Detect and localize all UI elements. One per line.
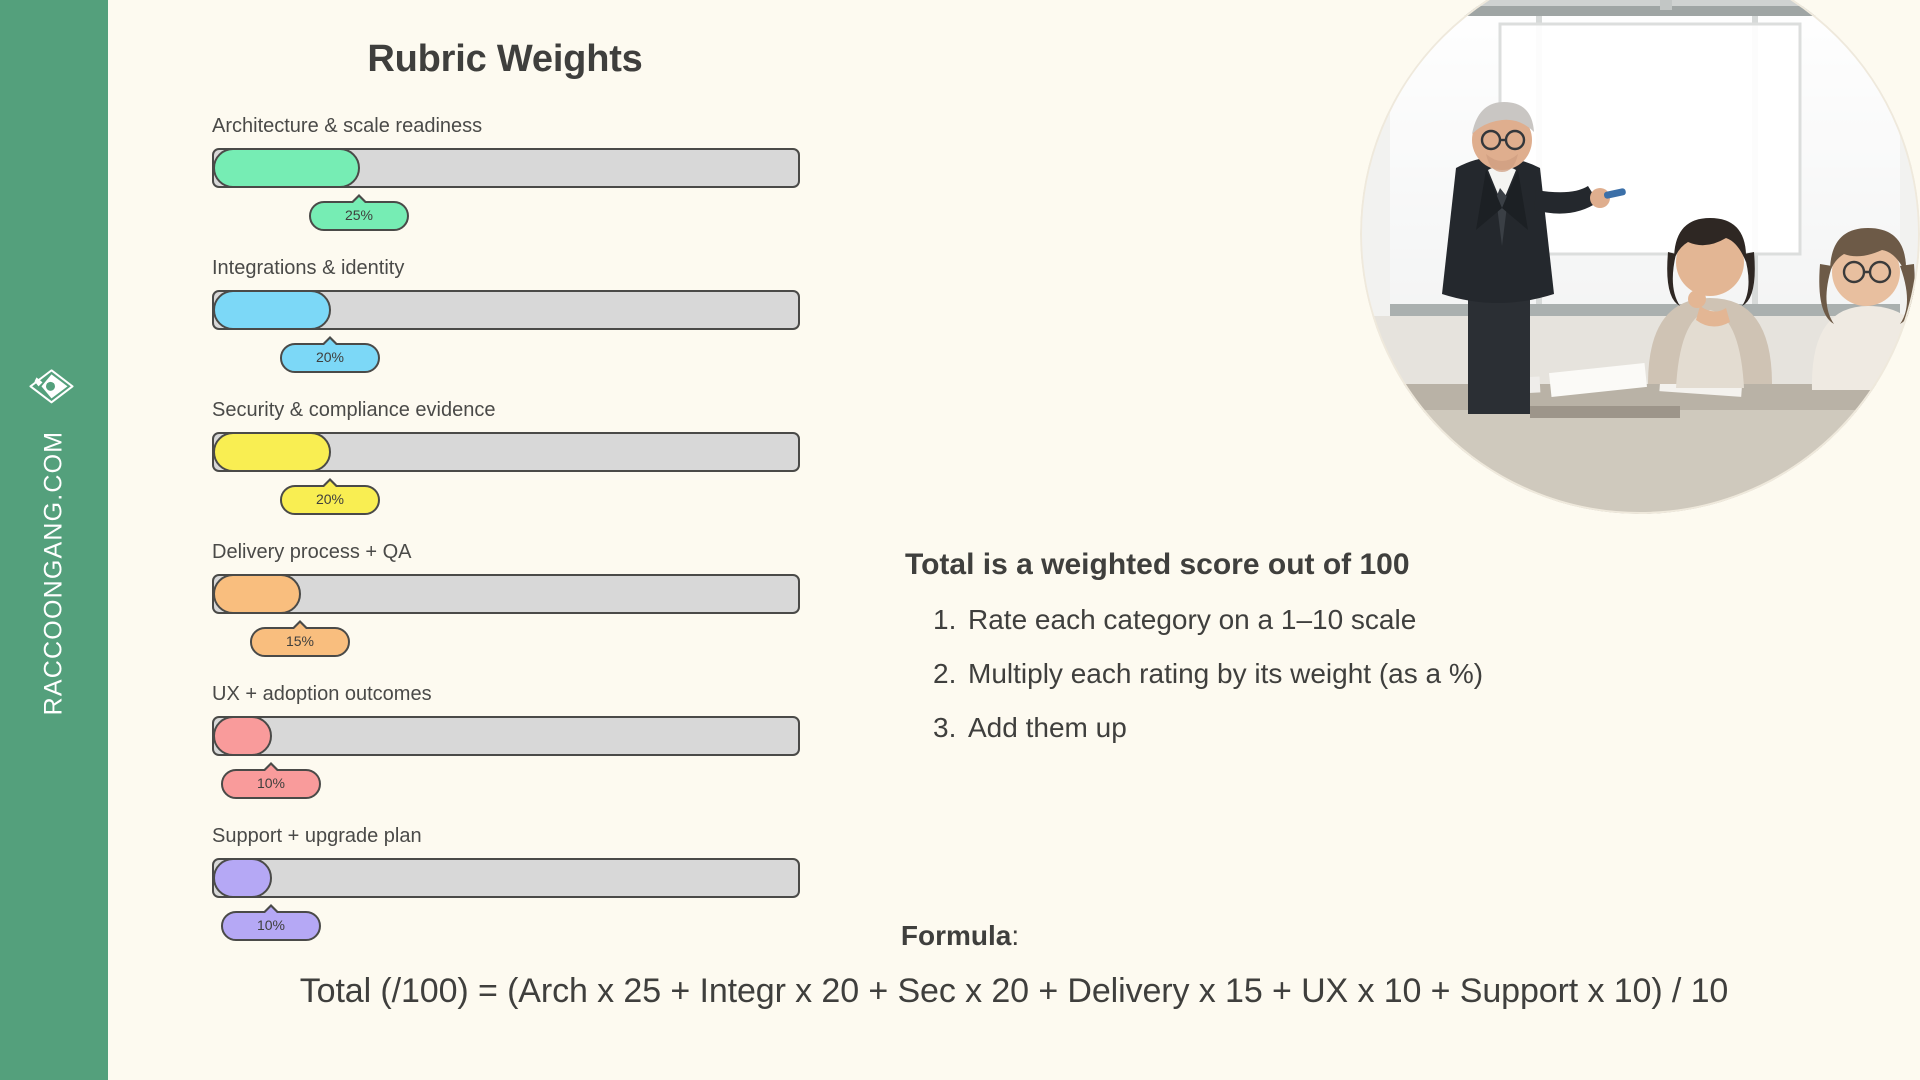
bar-category-label: Integrations & identity — [212, 257, 812, 279]
bar-track — [212, 432, 800, 472]
bar-group: UX + adoption outcomes10% — [212, 683, 812, 803]
bar-value-row: 20% — [212, 337, 812, 377]
bar-group: Architecture & scale readiness25% — [212, 115, 812, 235]
bar-value-badge: 10% — [221, 769, 321, 799]
scoring-step: Rate each category on a 1–10 scale — [905, 606, 1885, 634]
bar-fill — [213, 290, 331, 330]
brand-sidebar-content: RACCOONGANG.COM — [35, 365, 74, 716]
bar-track — [212, 716, 800, 756]
bar-value-badge: 20% — [280, 343, 380, 373]
meeting-photo — [1360, 0, 1920, 514]
bar-value-row: 20% — [212, 479, 812, 519]
rubric-weights-bar-chart: Architecture & scale readiness25%Integra… — [212, 115, 812, 967]
scoring-explanation: Total is a weighted score out of 100 Rat… — [905, 548, 1885, 768]
bar-track — [212, 148, 800, 188]
bar-value-row: 10% — [212, 763, 812, 803]
bar-value-badge: 20% — [280, 485, 380, 515]
bar-group: Delivery process + QA15% — [212, 541, 812, 661]
bar-fill — [213, 148, 360, 188]
scoring-heading: Total is a weighted score out of 100 — [905, 548, 1885, 582]
raccoon-diamond-logo-icon — [35, 365, 74, 409]
bar-value-badge: 25% — [309, 201, 409, 231]
bar-group: Security & compliance evidence20% — [212, 399, 812, 519]
bar-fill — [213, 716, 272, 756]
bar-category-label: Architecture & scale readiness — [212, 115, 812, 137]
brand-sidebar: RACCOONGANG.COM — [0, 0, 108, 1080]
formula-heading: Formula: — [0, 920, 1920, 952]
scoring-step: Multiply each rating by its weight (as a… — [905, 660, 1885, 688]
bar-fill — [213, 858, 272, 898]
formula-label: Formula — [901, 920, 1011, 951]
bar-category-label: Delivery process + QA — [212, 541, 812, 563]
bar-fill — [213, 574, 301, 614]
bar-category-label: UX + adoption outcomes — [212, 683, 812, 705]
formula-expression: Total (/100) = (Arch x 25 + Integr x 20 … — [108, 972, 1920, 1011]
bar-group: Integrations & identity20% — [212, 257, 812, 377]
bar-value-row: 25% — [212, 195, 812, 235]
scoring-step: Add them up — [905, 714, 1885, 742]
bar-value-badge: 15% — [250, 627, 350, 657]
brand-name-label: RACCOONGANG.COM — [40, 431, 69, 716]
scoring-steps-list: Rate each category on a 1–10 scaleMultip… — [905, 606, 1885, 742]
bar-category-label: Security & compliance evidence — [212, 399, 812, 421]
formula-colon: : — [1011, 920, 1019, 951]
page-title: Rubric Weights — [205, 38, 805, 81]
bar-track — [212, 858, 800, 898]
bar-track — [212, 574, 800, 614]
bar-fill — [213, 432, 331, 472]
bar-value-row: 15% — [212, 621, 812, 661]
bar-track — [212, 290, 800, 330]
bar-category-label: Support + upgrade plan — [212, 825, 812, 847]
